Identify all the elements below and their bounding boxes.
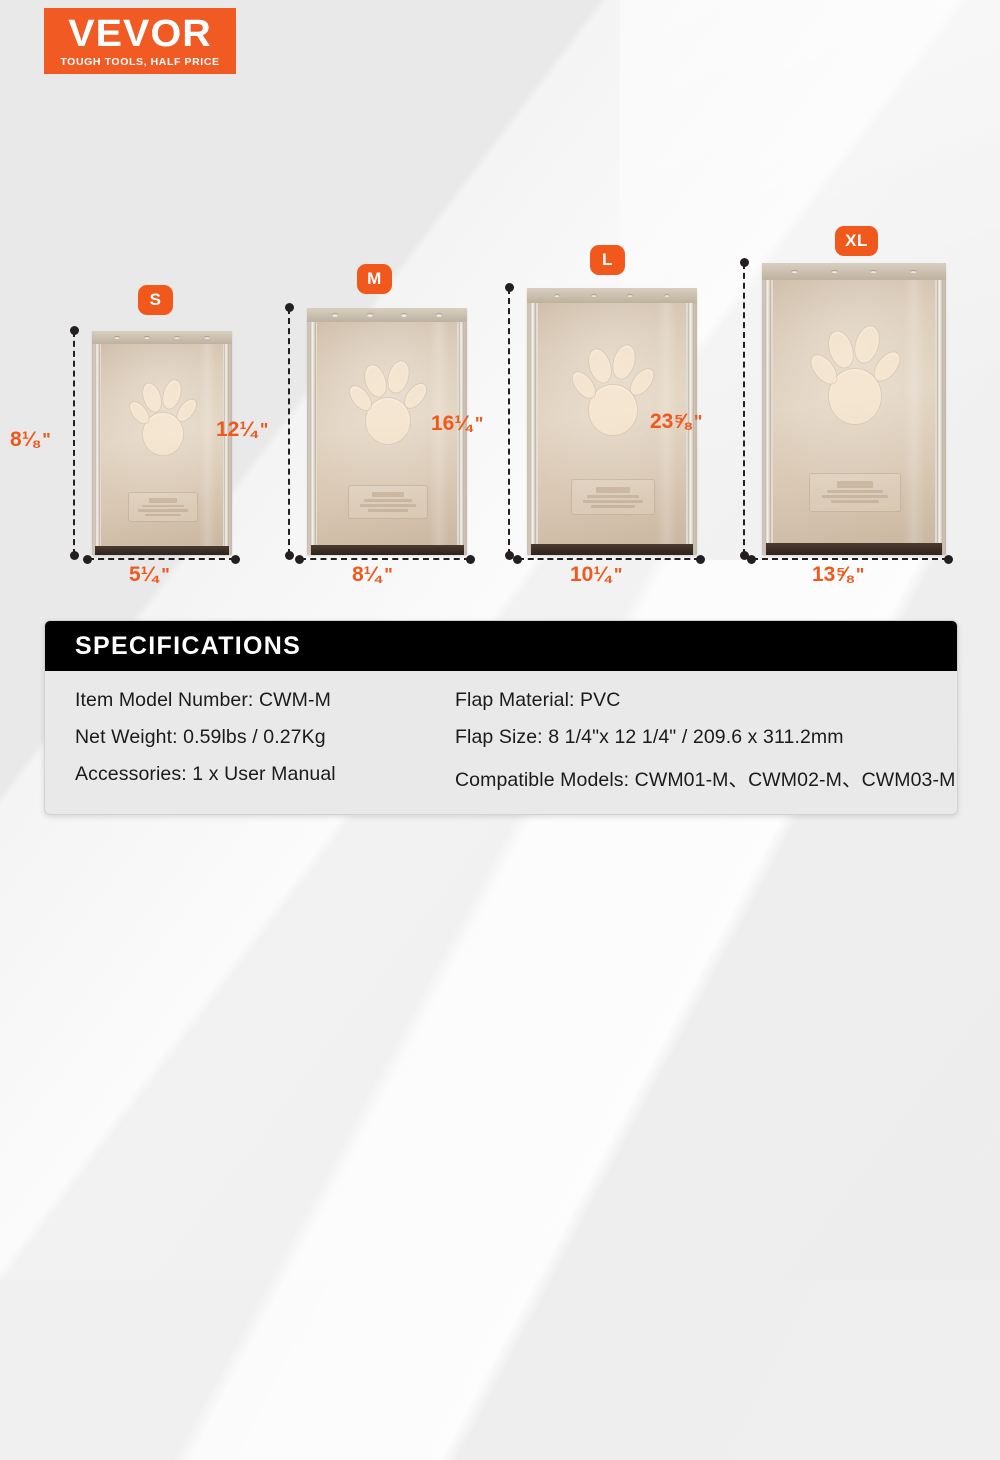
embossed-brand-plate	[571, 479, 656, 515]
door-bottom-bar	[311, 545, 464, 555]
screw-hole	[367, 313, 373, 316]
brand-plate-text-line	[591, 505, 634, 508]
specifications-title: SPECIFICATIONS	[75, 632, 301, 661]
width-dimension-label-m: 8¼"	[352, 563, 393, 587]
dimension-endpoint-dot	[231, 555, 240, 564]
dimension-endpoint-dot	[747, 555, 756, 564]
spec-item: Accessories: 1 x User Manual	[75, 763, 445, 792]
spec-item: Flap Material: PVC	[455, 689, 955, 712]
spec-item: Item Model Number: CWM-M	[75, 689, 445, 712]
specifications-body: Item Model Number: CWM-MFlap Material: P…	[45, 671, 957, 814]
width-unit: "	[614, 565, 623, 585]
brand-plate-text-line	[827, 490, 883, 493]
screw-hole	[144, 336, 149, 339]
mounting-top-rail	[92, 331, 232, 344]
dimension-endpoint-dot	[70, 551, 79, 560]
screw-hole	[627, 294, 633, 297]
specifications-panel: SPECIFICATIONS Item Model Number: CWM-MF…	[44, 620, 958, 815]
height-unit: "	[475, 414, 484, 434]
height-unit: "	[694, 412, 703, 432]
height-dimension-line-m	[288, 308, 290, 555]
height-dimension-label-m: 12¼"	[216, 418, 268, 442]
door-side-rail	[937, 280, 943, 555]
size-badge-m: M	[357, 264, 392, 294]
paw-print-icon	[132, 374, 193, 458]
height-unit: "	[260, 420, 269, 440]
screw-hole	[332, 313, 338, 316]
height-dimension-label-s: 8⅛"	[10, 428, 51, 452]
brand-plate-text-line	[831, 500, 878, 503]
width-dimension-line-xl	[752, 558, 948, 560]
door-side-rail	[530, 303, 536, 555]
mounting-top-rail	[527, 288, 697, 303]
size-badge-s: S	[138, 285, 173, 315]
door-side-rail	[459, 322, 465, 555]
screw-hole	[870, 270, 877, 274]
height-value: 23⅝	[650, 410, 691, 433]
brand-plate-text-line	[149, 498, 176, 503]
height-value: 16¼	[431, 412, 472, 435]
paw-print-icon	[814, 319, 895, 429]
brand-plate-text-line	[596, 487, 629, 493]
brand-plate-text-line	[583, 500, 643, 503]
spec-item: Compatible Models: CWM01-M、CWM02-M、CWM03…	[455, 763, 955, 792]
size-badge-l: L	[590, 245, 625, 275]
brand-plate-text-line	[145, 514, 181, 516]
height-dimension-line-s	[73, 331, 75, 555]
width-dimension-line-s	[88, 558, 235, 560]
door-bottom-bar	[95, 546, 229, 555]
height-value: 12¼	[216, 418, 257, 441]
screw-hole	[401, 313, 407, 316]
door-side-rail	[224, 344, 229, 555]
screw-hole	[174, 336, 179, 339]
embossed-brand-plate	[128, 492, 198, 522]
door-side-rail	[95, 344, 100, 555]
dimension-endpoint-dot	[696, 555, 705, 564]
dimension-endpoint-dot	[83, 555, 92, 564]
pet-door-s	[92, 331, 232, 555]
brand-plate-text-line	[368, 509, 409, 512]
dimension-endpoint-dot	[740, 258, 749, 267]
height-dimension-line-xl	[743, 263, 745, 555]
dimension-endpoint-dot	[70, 326, 79, 335]
width-dimension-label-s: 5¼"	[129, 563, 170, 587]
screw-hole	[910, 270, 917, 274]
dimension-endpoint-dot	[466, 555, 475, 564]
brand-plate-text-line	[364, 499, 413, 502]
door-side-rail	[765, 280, 771, 555]
brand-plate-text-line	[372, 492, 403, 497]
screw-hole	[114, 336, 119, 339]
mounting-top-rail	[762, 263, 946, 280]
mounting-top-rail	[307, 308, 467, 322]
height-unit: "	[42, 430, 51, 450]
width-unit: "	[856, 565, 865, 585]
dimension-endpoint-dot	[513, 555, 522, 564]
paw-print-icon	[575, 338, 649, 439]
width-value: 10¼	[570, 563, 611, 586]
specifications-header: SPECIFICATIONS	[45, 621, 957, 671]
size-badge-xl: XL	[835, 226, 878, 256]
spec-item: Net Weight: 0.59lbs / 0.27Kg	[75, 726, 445, 749]
screw-hole	[591, 294, 597, 297]
paw-print-icon	[352, 355, 422, 448]
brand-plate-text-line	[360, 504, 416, 507]
dimension-endpoint-dot	[285, 551, 294, 560]
width-value: 8¼	[352, 563, 381, 586]
door-bottom-bar	[766, 543, 942, 555]
door-side-rail	[310, 322, 316, 555]
spec-item: Flap Size: 8 1/4"x 12 1/4" / 209.6 x 311…	[455, 726, 955, 749]
brand-plate-text-line	[138, 509, 187, 511]
width-unit: "	[161, 565, 170, 585]
width-dimension-label-l: 10¼"	[570, 563, 622, 587]
brand-plate-text-line	[822, 495, 887, 498]
pet-door-xl	[762, 263, 946, 555]
dimension-endpoint-dot	[285, 303, 294, 312]
screw-hole	[831, 270, 838, 274]
height-dimension-label-xl: 23⅝"	[650, 410, 702, 434]
brand-plate-text-line	[837, 481, 873, 487]
dimension-endpoint-dot	[295, 555, 304, 564]
door-bottom-bar	[531, 544, 693, 555]
dimension-endpoint-dot	[944, 555, 953, 564]
width-unit: "	[384, 565, 393, 585]
width-dimension-label-xl: 13⅝"	[812, 563, 864, 587]
screw-hole	[436, 313, 442, 316]
height-dimension-label-l: 16¼"	[431, 412, 483, 436]
width-dimension-line-l	[518, 558, 700, 560]
product-size-comparison: S8⅛"5¼"M12¼"8¼"L16¼"10¼"XL23⅝"13⅝"	[0, 0, 1000, 600]
screw-hole	[664, 294, 670, 297]
screw-hole	[791, 270, 798, 274]
screw-hole	[204, 336, 209, 339]
dimension-endpoint-dot	[505, 283, 514, 292]
brand-plate-text-line	[142, 505, 184, 507]
height-dimension-line-l	[508, 288, 510, 555]
embossed-brand-plate	[348, 485, 428, 518]
width-value: 5¼	[129, 563, 158, 586]
width-value: 13⅝	[812, 563, 853, 586]
height-value: 8⅛	[10, 428, 39, 451]
embossed-brand-plate	[809, 473, 902, 512]
brand-plate-text-line	[587, 495, 638, 498]
screw-hole	[554, 294, 560, 297]
width-dimension-line-m	[300, 558, 470, 560]
